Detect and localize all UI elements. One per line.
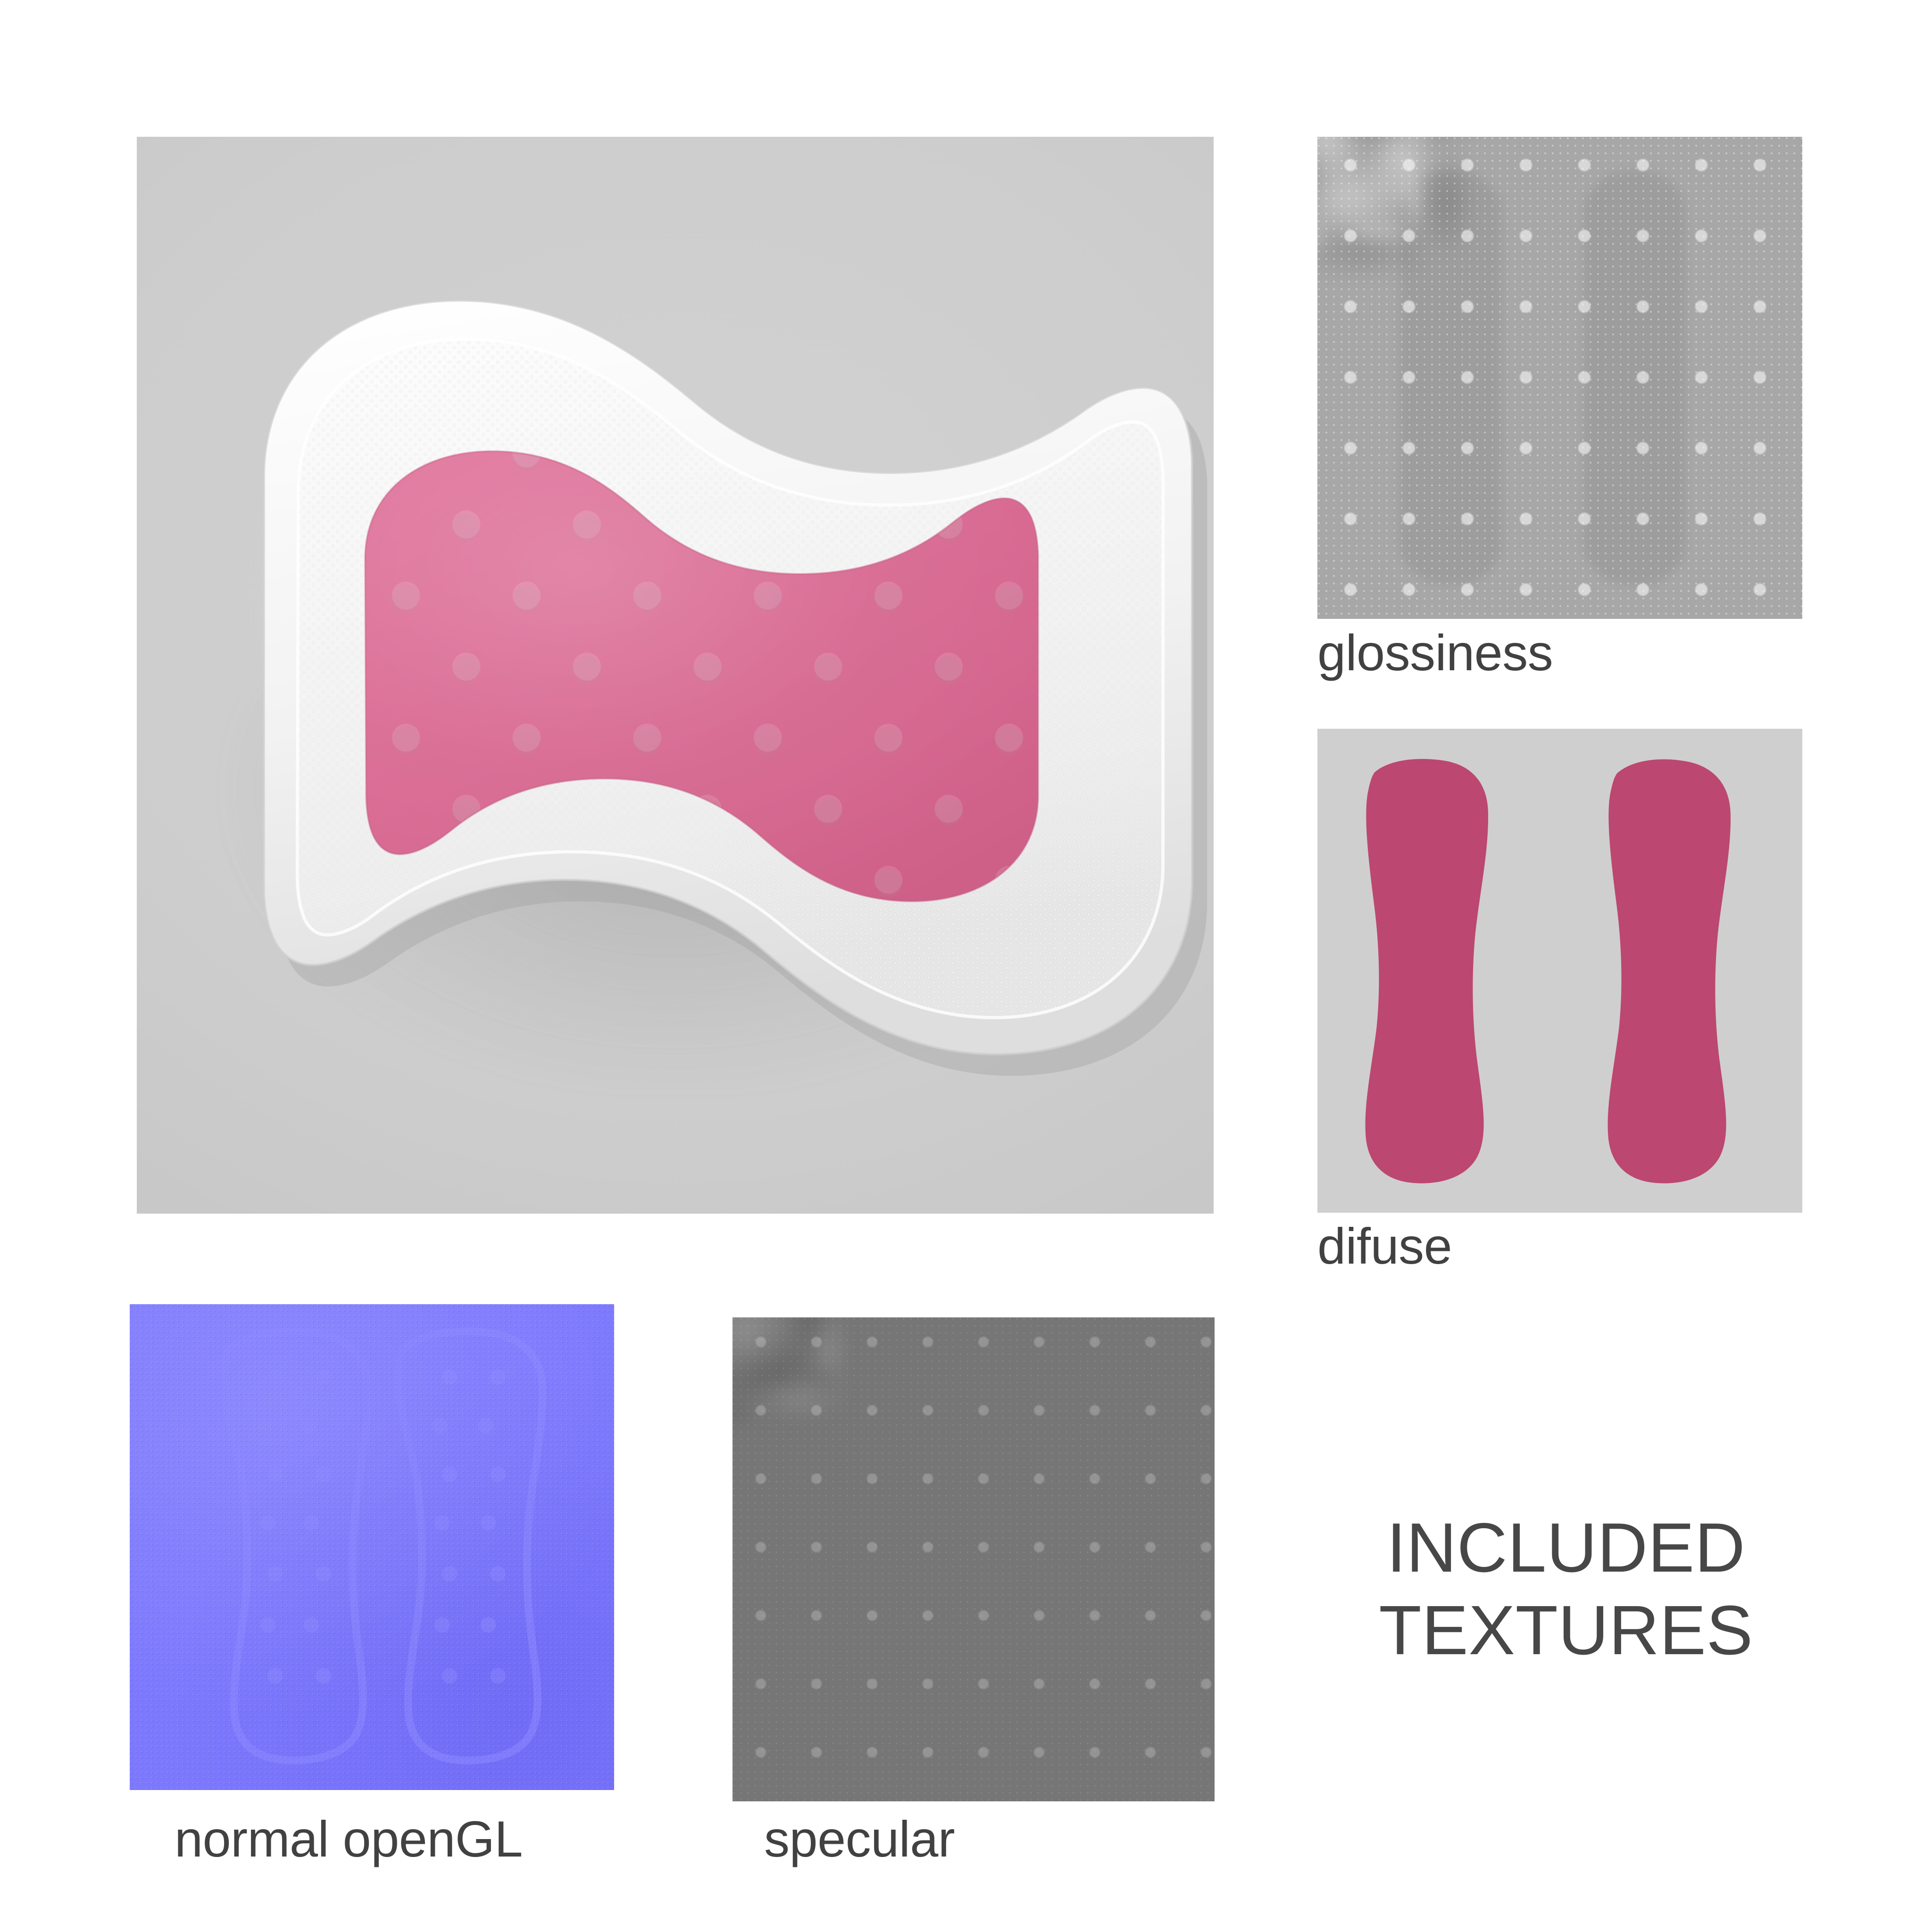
texture-tile-normal bbox=[130, 1304, 614, 1790]
texture-tile-difuse bbox=[1317, 729, 1802, 1213]
glossiness-flower-dots bbox=[1317, 137, 1802, 619]
label-specular: specular bbox=[764, 1814, 955, 1865]
pad-3d-render bbox=[137, 137, 1214, 1214]
heading-line-1: INCLUDED bbox=[1316, 1507, 1816, 1590]
heading-line-2: TEXTURES bbox=[1316, 1590, 1816, 1672]
texture-tile-specular bbox=[733, 1317, 1215, 1801]
label-normal: normal openGL bbox=[175, 1814, 523, 1865]
texture-tile-glossiness bbox=[1317, 137, 1802, 619]
render-preview-panel bbox=[137, 137, 1214, 1214]
label-difuse: difuse bbox=[1317, 1221, 1452, 1272]
specular-speckles bbox=[733, 1317, 1215, 1801]
normal-weave-pattern bbox=[130, 1304, 614, 1790]
label-glossiness: glossiness bbox=[1317, 627, 1553, 678]
included-textures-heading: INCLUDED TEXTURES bbox=[1316, 1507, 1816, 1672]
